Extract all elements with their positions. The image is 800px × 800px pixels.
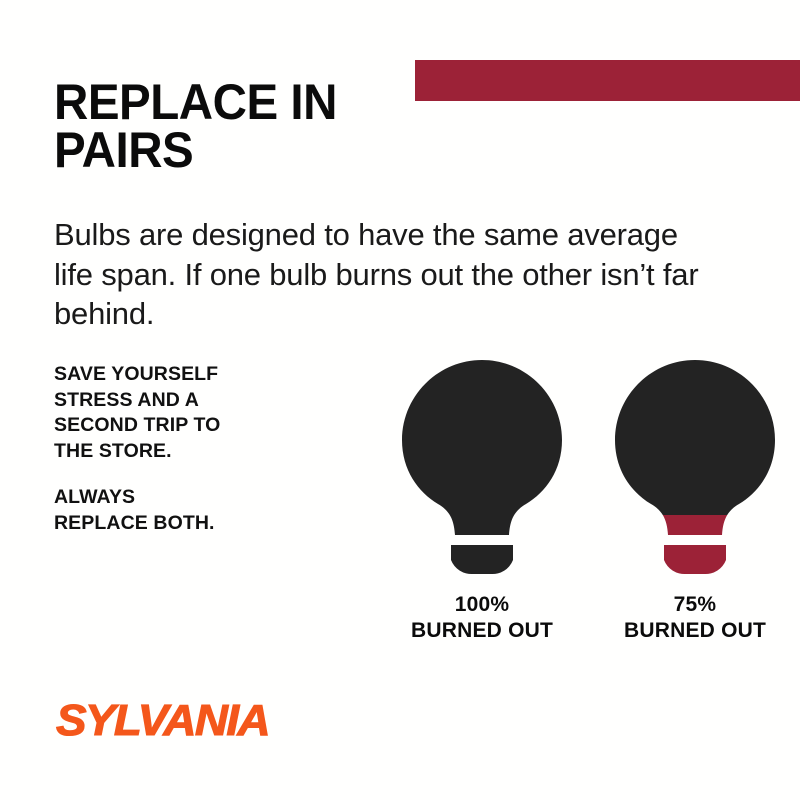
bulb-unit-75: 75% BURNED OUT — [595, 352, 795, 652]
bulb-caption-75: 75% BURNED OUT — [595, 592, 795, 643]
light-bulb-icon-75 — [595, 352, 795, 582]
bulb-comparison-group: 100% BURNED OUT — [380, 352, 800, 652]
page-title: REPLACE IN PAIRS — [54, 78, 396, 174]
callout-block: SAVE YOURSELF STRESS AND A SECOND TRIP T… — [54, 362, 334, 536]
sylvania-logo: SYLVANIA — [56, 696, 269, 746]
bulb-unit-100: 100% BURNED OUT — [382, 352, 582, 652]
red-accent-bar — [415, 60, 800, 101]
light-bulb-icon-100 — [382, 352, 582, 582]
callout-line-1: SAVE YOURSELF STRESS AND A SECOND TRIP T… — [54, 362, 334, 465]
bulb-caption-100: 100% BURNED OUT — [382, 592, 582, 643]
callout-line-2: ALWAYS REPLACE BOTH. — [54, 485, 334, 536]
body-paragraph: Bulbs are designed to have the same aver… — [54, 215, 714, 334]
infographic-poster: REPLACE IN PAIRS Bulbs are designed to h… — [0, 0, 800, 800]
